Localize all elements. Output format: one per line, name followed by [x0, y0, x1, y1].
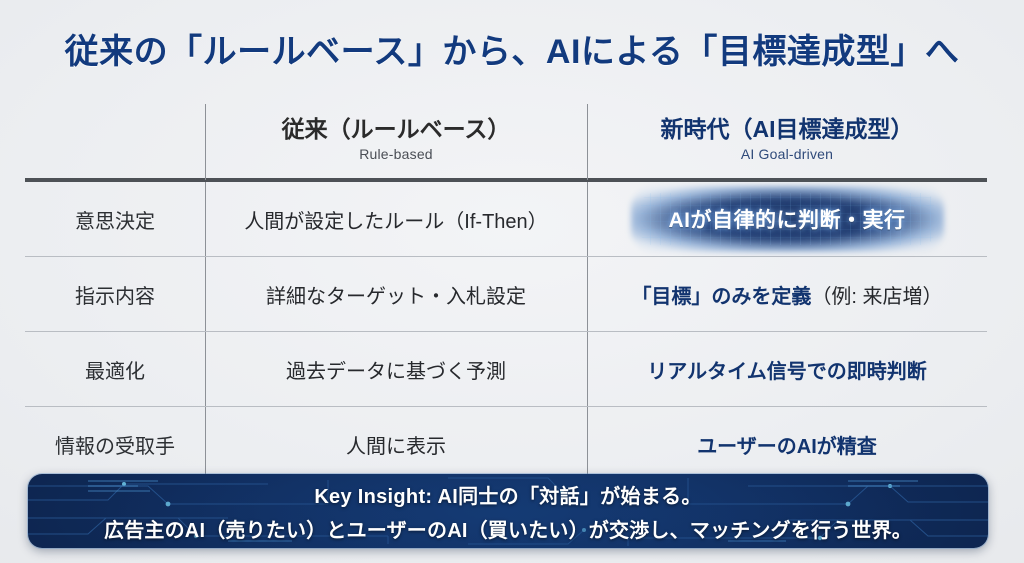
- row-label: 最適化: [25, 332, 205, 406]
- key-insight-banner: Key Insight: AI同士の「対話」が始まる。 広告主のAI（売りたい）…: [28, 474, 988, 548]
- row-new-text: AIが自律的に判断・実行: [669, 209, 906, 232]
- row-new-cell: AIが自律的に判断・実行: [587, 182, 987, 256]
- page-title: 従来の「ルールベース」から、AIによる「目標達成型」へ: [0, 24, 1024, 73]
- header-ai-goal-driven-sub: AI Goal-driven: [741, 146, 833, 162]
- row-new-cell: ユーザーのAIが精査: [587, 407, 987, 481]
- row-label: 指示内容: [25, 257, 205, 331]
- banner-line-2: 広告主のAI（売りたい）とユーザーのAI（買いたい）が交渉し、マッチングを行う世…: [104, 514, 912, 543]
- row-old-cell: 人間に表示: [205, 407, 587, 481]
- row-old-text: 人間に表示: [346, 430, 446, 459]
- header-cell-ai-goal-driven: 新時代（AI目標達成型） AI Goal-driven: [587, 100, 987, 178]
- row-label-text: 指示内容: [75, 280, 155, 309]
- header-ai-goal-driven-main: 新時代（AI目標達成型）: [661, 116, 914, 142]
- row-new-text-wrap: 「目標」のみを定義（例: 来店増）: [631, 280, 942, 309]
- row-label-text: 情報の受取手: [55, 430, 175, 459]
- header-rule-based-sub: Rule-based: [359, 146, 433, 162]
- comparison-table: 従来（ルールベース） Rule-based 新時代（AI目標達成型） AI Go…: [25, 100, 987, 481]
- row-label: 情報の受取手: [25, 407, 205, 481]
- row-old-text: 人間が設定したルール（If-Then）: [244, 205, 547, 234]
- header-cell-blank: [25, 100, 205, 178]
- header-rule-based-main: 従来（ルールベース）: [282, 116, 511, 142]
- table-row: 情報の受取手 人間に表示 ユーザーのAIが精査: [25, 407, 987, 481]
- slide-root: 従来の「ルールベース」から、AIによる「目標達成型」へ 従来（ルールベース） R…: [0, 0, 1024, 563]
- header-cell-rule-based: 従来（ルールベース） Rule-based: [205, 100, 587, 178]
- row-old-text: 過去データに基づく予測: [286, 355, 506, 384]
- row-label-text: 最適化: [85, 355, 145, 384]
- row-new-cell: 「目標」のみを定義（例: 来店増）: [587, 257, 987, 331]
- row-old-text: 詳細なターゲット・入札設定: [266, 280, 526, 309]
- row-label-text: 意思決定: [75, 205, 155, 234]
- row-old-cell: 人間が設定したルール（If-Then）: [205, 182, 587, 256]
- row-old-cell: 過去データに基づく予測: [205, 332, 587, 406]
- row-new-text: 「目標」のみを定義: [631, 286, 811, 308]
- table-row: 指示内容 詳細なターゲット・入札設定 「目標」のみを定義（例: 来店増）: [25, 257, 987, 331]
- table-row: 意思決定 人間が設定したルール（If-Then） AIが自律的に判断・実行: [25, 182, 987, 256]
- row-old-cell: 詳細なターゲット・入札設定: [205, 257, 587, 331]
- row-new-cell: リアルタイム信号での即時判断: [587, 332, 987, 406]
- row-new-text: リアルタイム信号での即時判断: [647, 355, 926, 384]
- table-row: 最適化 過去データに基づく予測 リアルタイム信号での即時判断: [25, 332, 987, 406]
- banner-line-1: Key Insight: AI同士の「対話」が始まる。: [314, 480, 701, 509]
- row-label: 意思決定: [25, 182, 205, 256]
- highlight-pill: AIが自律的に判断・実行: [645, 195, 930, 243]
- table-header-row: 従来（ルールベース） Rule-based 新時代（AI目標達成型） AI Go…: [25, 100, 987, 178]
- row-new-text: ユーザーのAIが精査: [697, 430, 877, 459]
- row-new-text-note: （例: 来店増）: [811, 286, 942, 308]
